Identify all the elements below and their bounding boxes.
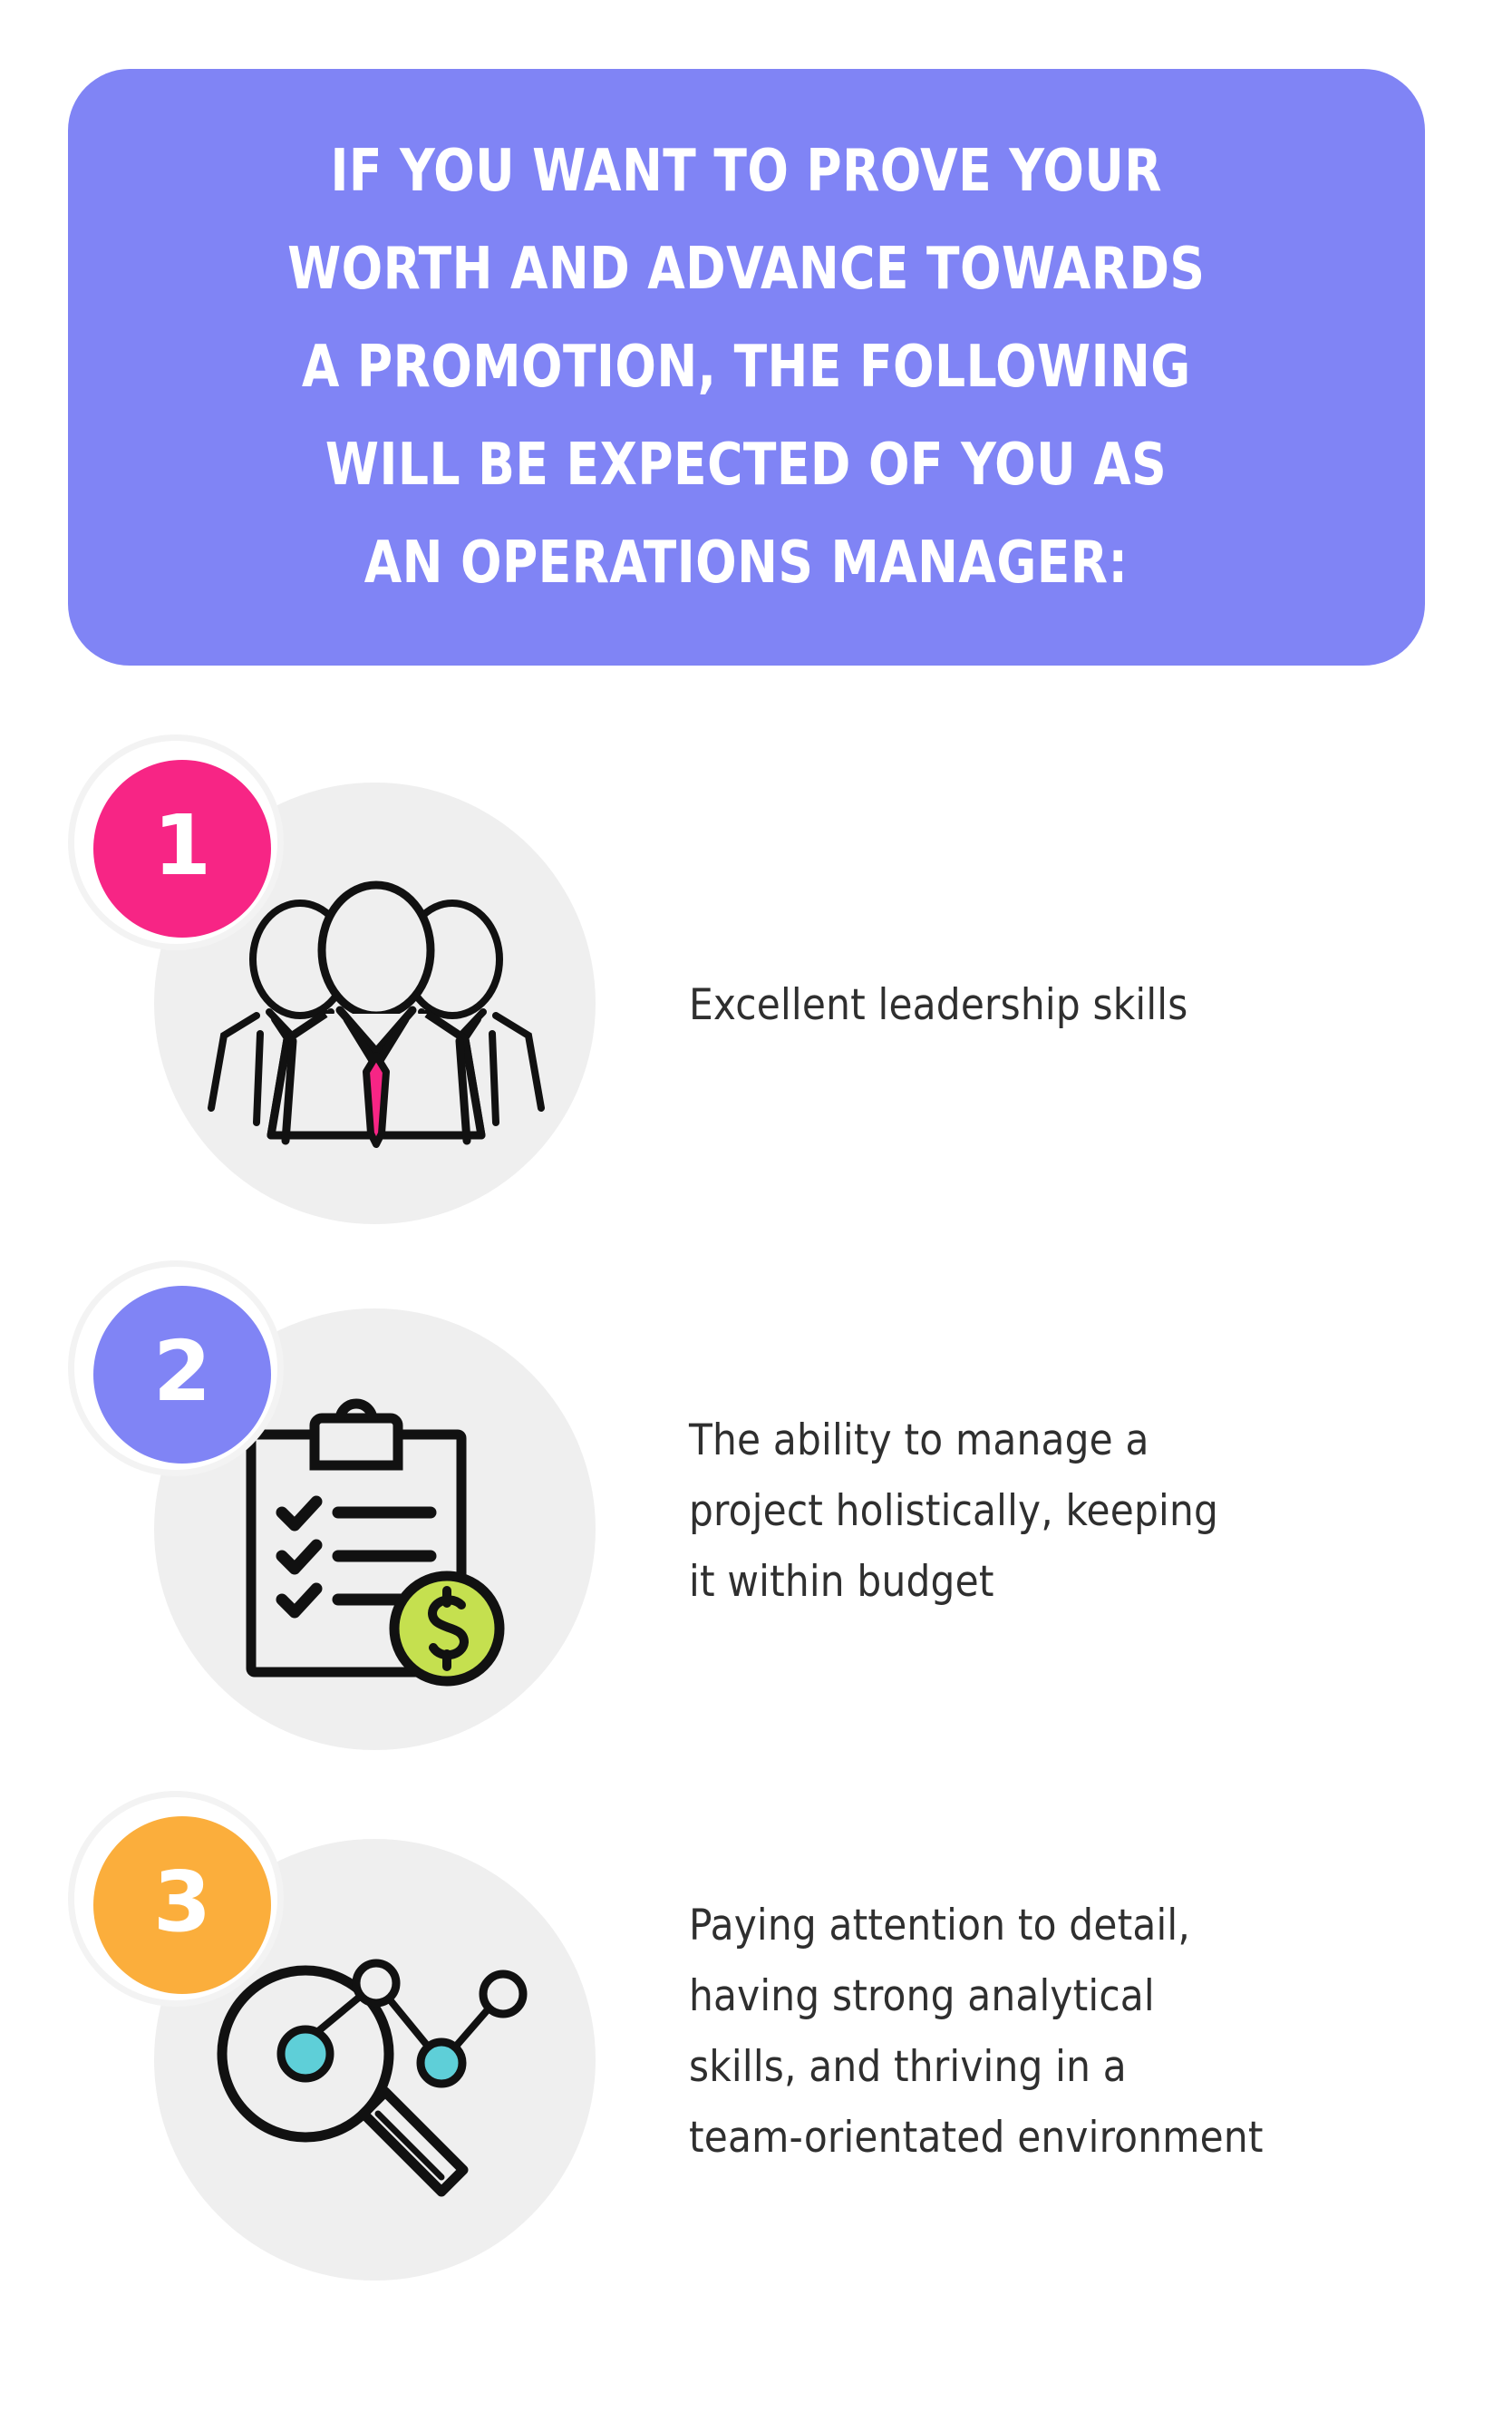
item-3-badge-ring: 3 bbox=[68, 1791, 284, 2007]
header-banner: IF YOU WANT TO PROVE YOUR WORTH AND ADVA… bbox=[68, 69, 1425, 666]
three-businesspeople-team-icon bbox=[204, 870, 548, 1170]
item-3-text-line-2: having strong analytical bbox=[689, 1961, 1432, 2032]
list-item: 3 Paying attention to detail, having str… bbox=[0, 1791, 1512, 2299]
header-line-2: WORTH AND ADVANCE TOWARDS bbox=[287, 220, 1205, 318]
clipboard-checklist-dollar-coin-icon bbox=[204, 1396, 548, 1696]
item-3-text-line-4: team-orientated environment bbox=[689, 2103, 1432, 2174]
header-line-1: IF YOU WANT TO PROVE YOUR bbox=[331, 122, 1162, 220]
header-line-3: A PROMOTION, THE FOLLOWING bbox=[302, 318, 1191, 416]
item-1-badge-ring: 1 bbox=[68, 734, 284, 950]
list-item: 2 The ability to manage a project holist… bbox=[0, 1260, 1512, 1768]
list-item: 1 Excellent leadership skills bbox=[0, 734, 1512, 1224]
item-2-badge-number: 2 bbox=[93, 1286, 271, 1464]
item-3-text-line-3: skills, and thriving in a bbox=[689, 2032, 1432, 2103]
magnifying-glass-analytics-chart-icon bbox=[204, 1927, 548, 2226]
item-3-badge-number: 3 bbox=[93, 1816, 271, 1994]
item-3-icon-stack: 3 bbox=[68, 1791, 539, 2281]
item-2-text-line-3: it within budget bbox=[689, 1547, 1405, 1618]
item-1-text: Excellent leadership skills bbox=[689, 970, 1396, 1041]
header-line-5: AN OPERATIONS MANAGER: bbox=[364, 514, 1129, 612]
item-3-text-line-1: Paying attention to detail, bbox=[689, 1891, 1432, 1961]
item-3-text: Paying attention to detail, having stron… bbox=[689, 1891, 1432, 2174]
header-line-4: WILL BE EXPECTED OF YOU AS bbox=[325, 416, 1167, 514]
item-1-badge-number: 1 bbox=[93, 760, 271, 938]
item-2-text: The ability to manage a project holistic… bbox=[689, 1405, 1405, 1618]
item-1-icon-stack: 1 bbox=[68, 734, 539, 1224]
item-2-text-line-2: project holistically, keeping bbox=[689, 1476, 1405, 1547]
item-2-text-line-1: The ability to manage a bbox=[689, 1405, 1405, 1476]
item-1-text-line-1: Excellent leadership skills bbox=[689, 970, 1396, 1041]
item-2-icon-stack: 2 bbox=[68, 1260, 539, 1750]
item-2-badge-ring: 2 bbox=[68, 1260, 284, 1476]
infographic-page: IF YOU WANT TO PROVE YOUR WORTH AND ADVA… bbox=[0, 0, 1512, 2412]
